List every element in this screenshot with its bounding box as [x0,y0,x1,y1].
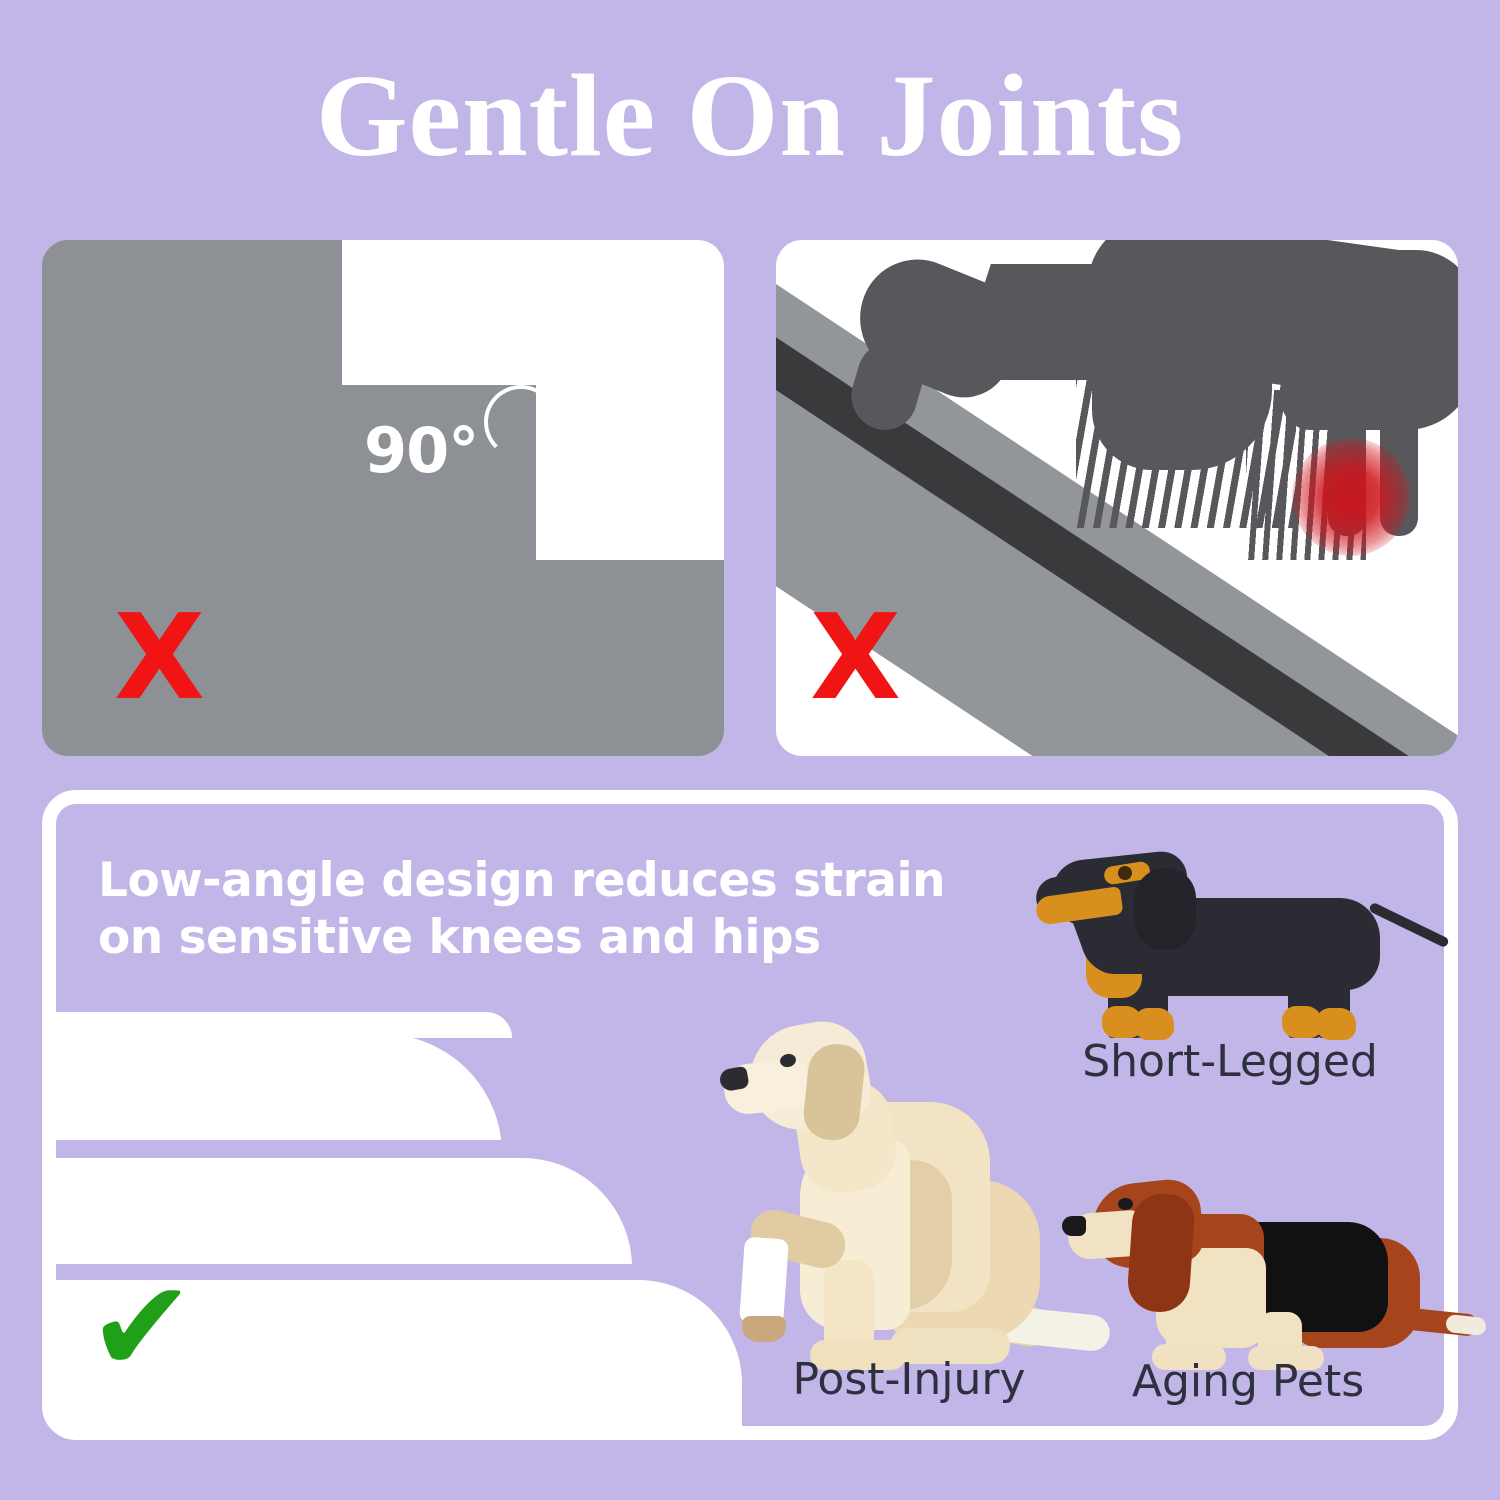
steep-step-panel: 90° X [42,240,724,756]
retriever-bandaged-paw [742,1316,786,1342]
breed-label-retriever: Post-Injury [714,1354,1104,1405]
benefit-headline: Low-angle design reduces strain on sensi… [98,852,958,967]
basset-eye [1118,1198,1133,1210]
joint-pain-indicator-icon [1292,438,1410,556]
steep-ramp-panel: X [776,240,1458,756]
angle-label: 90° [364,414,478,487]
right-angle-arc-icon [484,385,558,459]
leg-bandage-icon [739,1237,789,1326]
red-x-icon: X [114,598,205,716]
infographic-canvas: Gentle On Joints 90° X X Low-angle [0,0,1500,1500]
breed-illustration-retriever: Post-Injury [714,1010,1104,1410]
breed-label-basset: Aging Pets [1048,1356,1448,1407]
step-shape-upper [342,240,724,385]
dachshund-eye [1118,866,1132,880]
basset-nose [1062,1216,1086,1236]
basset-ear [1126,1192,1196,1314]
dachshund-ear [1134,868,1196,950]
green-check-icon: ✔ [88,1264,195,1392]
stair-gap-1 [42,1140,522,1158]
page-title: Gentle On Joints [0,52,1500,179]
breed-illustration-basset: Aging Pets [1048,1160,1448,1410]
red-x-icon: X [810,598,901,716]
step-shape-lower [536,385,724,560]
